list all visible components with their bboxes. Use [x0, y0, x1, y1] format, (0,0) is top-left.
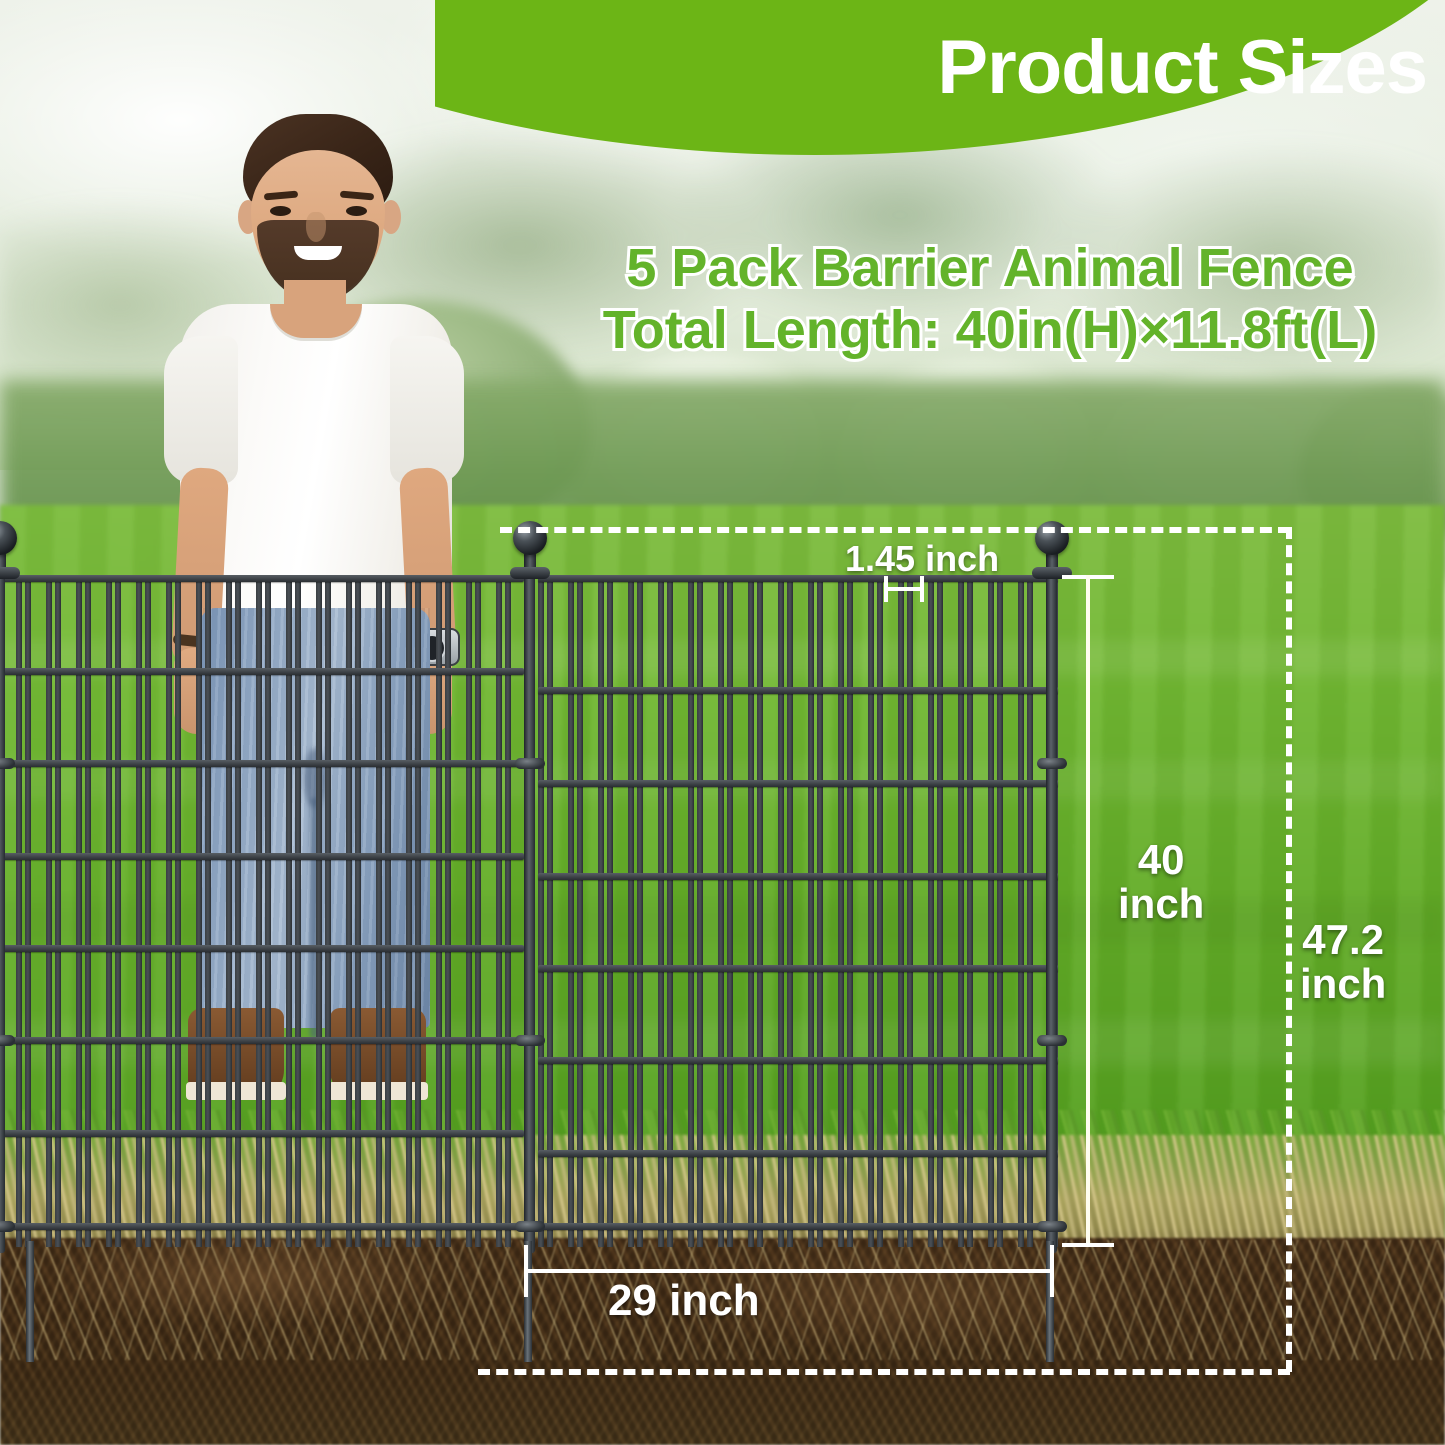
horizontal-rail [538, 1223, 1058, 1230]
post-clip [0, 1221, 15, 1232]
post-clip [1037, 1035, 1067, 1046]
post-cap [0, 567, 20, 579]
product-image: 1.45 inch 40 inch 47.2 inch 29 inch 5 Pa… [0, 0, 1445, 1445]
horizontal-rail [538, 873, 1058, 880]
width-line-29 [524, 1269, 1054, 1273]
total-height-value: 47.2 [1302, 916, 1384, 963]
total-height-unit: inch [1300, 960, 1386, 1007]
panel-height-value: 40 [1138, 836, 1185, 883]
horizontal-rail [0, 945, 524, 952]
post-clip [1037, 758, 1067, 769]
horizontal-rail [538, 1150, 1058, 1157]
height-line-40 [1086, 575, 1090, 1247]
panel-height-label: 40 inch [1118, 838, 1204, 926]
horizontal-rail [0, 1037, 524, 1044]
total-height-label: 47.2 inch [1300, 918, 1386, 1006]
headline-text: 5 Pack Barrier Animal Fence Total Length… [545, 238, 1435, 361]
post-clip [0, 1035, 15, 1046]
panel-height-unit: inch [1118, 880, 1204, 927]
horizontal-rail [0, 760, 524, 767]
right-dashed-line [1286, 527, 1292, 1372]
vertical-wires [538, 575, 1058, 1247]
headline-line-1: 5 Pack Barrier Animal Fence [545, 238, 1435, 300]
post-clip [515, 1221, 545, 1232]
fence-post [0, 571, 5, 1253]
post-clip [0, 758, 15, 769]
horizontal-rail [538, 780, 1058, 787]
horizontal-rail [0, 1223, 524, 1230]
horizontal-rail [0, 853, 524, 860]
horizontal-rail [538, 687, 1058, 694]
horizontal-rail [538, 1057, 1058, 1064]
width-line-right-cap [1050, 1245, 1054, 1297]
top-dashed-line [500, 527, 1290, 533]
gap-width-label: 1.45 inch [845, 540, 999, 578]
ball-finial-icon [0, 521, 17, 555]
horizontal-rail [0, 668, 524, 675]
fence-post [524, 571, 535, 1253]
height-line-bottom-cap [1062, 1243, 1114, 1247]
post-clip [515, 758, 545, 769]
vertical-wires [0, 575, 524, 1247]
horizontal-rail [538, 965, 1058, 972]
post-clip [515, 1035, 545, 1046]
bottom-dashed-line [478, 1369, 1290, 1375]
fence-assembly [0, 0, 1445, 1445]
banner-title: Product Sizes [937, 30, 1427, 106]
panel-width-label: 29 inch [608, 1278, 760, 1324]
fence-post [1046, 571, 1057, 1253]
fence-panel [0, 575, 524, 1247]
fence-panel [538, 575, 1058, 1247]
ground-stake [26, 1241, 34, 1362]
product-sizes-banner: Product Sizes [435, 0, 1445, 155]
post-clip [1037, 1221, 1067, 1232]
horizontal-rail [0, 1130, 524, 1137]
headline-line-2: Total Length: 40in(H)×11.8ft(L) [545, 300, 1435, 362]
post-cap [510, 567, 550, 579]
gap-bracket [884, 576, 924, 602]
horizontal-rail [0, 575, 524, 582]
